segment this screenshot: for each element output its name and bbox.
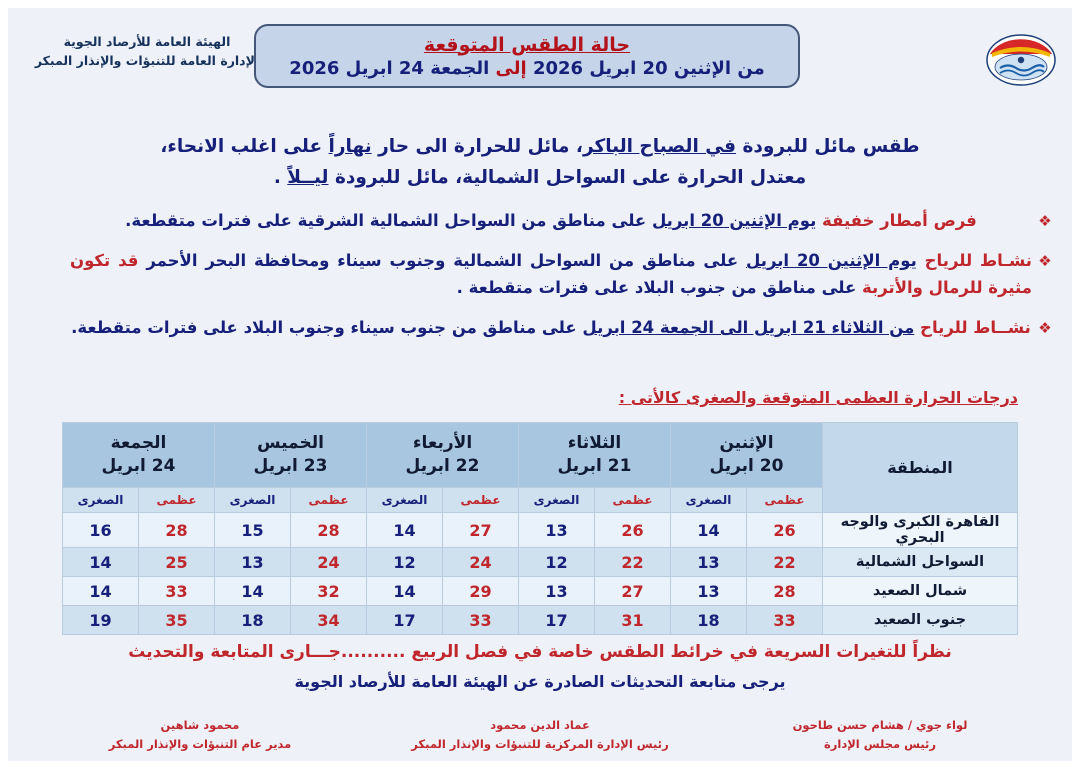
agency-line-1: الهيئة العامة للأرصاد الجوية	[22, 32, 272, 51]
page-bottom-margin	[0, 761, 1080, 777]
bullet-3-red: نشــاط للرياح	[914, 318, 1031, 337]
temp-max: 27	[595, 577, 671, 606]
subheader-min-thursday: الصغرى	[215, 488, 291, 513]
temp-max: 35	[139, 606, 215, 635]
temp-max: 34	[291, 606, 367, 635]
bullet-1-red: فرص أمطار خفيفة	[816, 211, 977, 230]
temp-min: 13	[671, 548, 747, 577]
diamond-bullet-icon: ❖	[1032, 315, 1058, 340]
temp-min: 14	[367, 513, 443, 548]
bullet-2-red: نشـاط للرياح	[917, 251, 1032, 270]
bullet-2-underline: يوم الإثنين 20 ابريل	[746, 251, 917, 270]
summary-underline-3: ليــلاً	[287, 167, 328, 188]
forecast-title-box: حالة الطقس المتوقعة من الإثنين 20 ابريل …	[254, 24, 800, 88]
temp-min: 13	[519, 577, 595, 606]
table-row: جنوب الصعيد 33 18 31 17 33 17 34 18 35 1…	[63, 606, 1018, 635]
bullet-1-rest: على مناطق من السواحل الشمالية الشرقية عل…	[125, 211, 652, 230]
update-notice-blue: يرجى متابعة التحديثات الصادرة عن الهيئة …	[60, 669, 1020, 695]
temp-min: 13	[671, 577, 747, 606]
agency-logo-icon	[982, 32, 1060, 88]
weather-forecast-page: الهيئة العامة للأرصاد الجوية الإدارة الع…	[0, 0, 1080, 777]
day-header-wednesday: الأربعاء 22 ابريل	[367, 423, 519, 488]
temp-max: 28	[291, 513, 367, 548]
day-date: 22 ابريل	[368, 455, 517, 478]
day-header-monday: الإثنين 20 ابريل	[671, 423, 823, 488]
subheader-max-wednesday: عظمى	[443, 488, 519, 513]
signature-name: محمود شاهين	[30, 716, 370, 736]
bullet-3-underline: من الثلاثاء 21 ابريل الى الجمعة 24 ابريل	[582, 318, 914, 337]
page-title: حالة الطقس المتوقعة	[424, 34, 630, 56]
subheader-max-thursday: عظمى	[291, 488, 367, 513]
bullet-3-rest: على مناطق من جنوب سيناء وجنوب البلاد على…	[71, 318, 582, 337]
signature-role: رئيس مجلس الإدارة	[710, 735, 1050, 755]
update-notice-red: نظراً للتغيرات السريعة في خرائط الطقس خا…	[60, 640, 1020, 666]
temp-min: 14	[63, 577, 139, 606]
subheader-min-wednesday: الصغرى	[367, 488, 443, 513]
temp-max: 29	[443, 577, 519, 606]
day-name: الجمعة	[64, 432, 213, 455]
date-range-prefix: من الإثنين 20 ابريل 2026	[527, 58, 765, 79]
region-name: السواحل الشمالية	[823, 548, 1018, 577]
list-item: ❖ نشــاط للرياح من الثلاثاء 21 ابريل الى…	[70, 315, 1058, 341]
day-date: 23 ابريل	[216, 455, 365, 478]
temp-min: 16	[63, 513, 139, 548]
temp-max: 28	[747, 577, 823, 606]
table-row: القاهرة الكبرى والوجه البحري 26 14 26 13…	[63, 513, 1018, 548]
signature-central-head: عماد الدين محمود رئيس الإدارة المركزية ل…	[370, 716, 710, 755]
subheader-max-monday: عظمى	[747, 488, 823, 513]
agency-logo	[982, 32, 1060, 88]
region-name: جنوب الصعيد	[823, 606, 1018, 635]
agency-line-2: الإدارة العامة للتنبؤات والإنذار المبكر	[22, 51, 272, 70]
forecast-summary-line-1: طقس مائل للبرودة في الصباح الباكر، مائل …	[60, 132, 1020, 163]
bullet-3-text: نشــاط للرياح من الثلاثاء 21 ابريل الى ا…	[70, 315, 1032, 341]
table-head: المنطقة الإثنين 20 ابريل الثلاثاء 21 ابر…	[63, 423, 1018, 513]
day-name: الثلاثاء	[520, 432, 669, 455]
bullet-2-rest: على مناطق من السواحل الشمالية وجنوب سينا…	[146, 251, 746, 270]
day-name: الإثنين	[672, 432, 821, 455]
temp-min: 18	[215, 606, 291, 635]
signature-name: عماد الدين محمود	[370, 716, 710, 736]
temp-max: 28	[139, 513, 215, 548]
list-item: ❖ فرص أمطار خفيفة يوم الإثنين 20 ابريل ع…	[70, 208, 1058, 234]
forecast-summary: طقس مائل للبرودة في الصباح الباكر، مائل …	[60, 132, 1020, 193]
temp-min: 18	[671, 606, 747, 635]
summary-seg-2: ، مائل للحرارة الى حار	[372, 136, 583, 157]
subheader-max-friday: عظمى	[139, 488, 215, 513]
region-column-header: المنطقة	[823, 423, 1018, 513]
signature-role: مدير عام التنبؤات والإنذار المبكر	[30, 735, 370, 755]
forecast-summary-line-2: معتدل الحرارة على السواحل الشمالية، مائل…	[60, 163, 1020, 194]
table-row: شمال الصعيد 28 13 27 13 29 14 32 14 33 1…	[63, 577, 1018, 606]
summary-underline-1: في الصباح الباكر	[583, 136, 736, 157]
temperature-table-caption: درجات الحرارة العظمى المتوقعة والصغرى كا…	[619, 388, 1018, 407]
signature-general-manager: محمود شاهين مدير عام التنبؤات والإنذار ا…	[30, 716, 370, 755]
day-header-friday: الجمعة 24 ابريل	[63, 423, 215, 488]
temp-max: 24	[443, 548, 519, 577]
subheader-min-monday: الصغرى	[671, 488, 747, 513]
day-name: الأربعاء	[368, 432, 517, 455]
bullet-1-text: فرص أمطار خفيفة يوم الإثنين 20 ابريل على…	[70, 208, 1032, 234]
summary-seg-5: .	[274, 167, 287, 188]
signature-role: رئيس الإدارة المركزية للتنبؤات والإنذار …	[370, 735, 710, 755]
day-date: 24 ابريل	[64, 455, 213, 478]
temp-max: 33	[443, 606, 519, 635]
temp-min: 19	[63, 606, 139, 635]
temp-min: 14	[367, 577, 443, 606]
agency-name-block: الهيئة العامة للأرصاد الجوية الإدارة الع…	[22, 32, 272, 71]
footer-notes: نظراً للتغيرات السريعة في خرائط الطقس خا…	[60, 640, 1020, 694]
summary-seg-3: على اغلب الانحاء،	[160, 136, 328, 157]
summary-seg-4: معتدل الحرارة على السواحل الشمالية، مائل…	[329, 167, 807, 188]
day-date: 21 ابريل	[520, 455, 669, 478]
temp-max: 22	[595, 548, 671, 577]
day-name: الخميس	[216, 432, 365, 455]
temp-max: 24	[291, 548, 367, 577]
temp-max: 27	[443, 513, 519, 548]
temperature-table-wrapper: المنطقة الإثنين 20 ابريل الثلاثاء 21 ابر…	[62, 422, 1018, 635]
temp-min: 13	[215, 548, 291, 577]
temp-max: 31	[595, 606, 671, 635]
date-range-suffix: الجمعة 24 ابريل 2026	[289, 58, 495, 79]
subheader-min-tuesday: الصغرى	[519, 488, 595, 513]
diamond-bullet-icon: ❖	[1032, 248, 1058, 273]
region-name: شمال الصعيد	[823, 577, 1018, 606]
temp-max: 32	[291, 577, 367, 606]
temp-max: 33	[139, 577, 215, 606]
forecast-date-range: من الإثنين 20 ابريل 2026 إلى الجمعة 24 ا…	[289, 58, 764, 79]
page-left-margin	[0, 0, 8, 777]
table-day-header-row: المنطقة الإثنين 20 ابريل الثلاثاء 21 ابر…	[63, 423, 1018, 488]
temp-max: 26	[747, 513, 823, 548]
list-item: ❖ نشـاط للرياح يوم الإثنين 20 ابريل على …	[70, 248, 1058, 301]
diamond-bullet-icon: ❖	[1032, 208, 1058, 233]
temp-min: 13	[519, 513, 595, 548]
bullet-1-underline: يوم الإثنين 20 ابريل	[652, 211, 816, 230]
date-range-connector: إلى	[496, 58, 527, 79]
subheader-max-tuesday: عظمى	[595, 488, 671, 513]
temp-min: 17	[367, 606, 443, 635]
signature-block: لواء جوي / هشام حسن طاحون رئيس مجلس الإد…	[30, 716, 1050, 755]
summary-underline-2: نهاراً	[329, 136, 372, 157]
temp-max: 33	[747, 606, 823, 635]
header: الهيئة العامة للأرصاد الجوية الإدارة الع…	[10, 22, 1070, 108]
temp-min: 14	[215, 577, 291, 606]
page-right-margin	[1072, 0, 1080, 777]
subheader-min-friday: الصغرى	[63, 488, 139, 513]
temp-min: 14	[63, 548, 139, 577]
day-date: 20 ابريل	[672, 455, 821, 478]
temperature-table: المنطقة الإثنين 20 ابريل الثلاثاء 21 ابر…	[62, 422, 1018, 635]
region-name: القاهرة الكبرى والوجه البحري	[823, 513, 1018, 548]
temp-max: 26	[595, 513, 671, 548]
table-body: القاهرة الكبرى والوجه البحري 26 14 26 13…	[63, 513, 1018, 635]
bullet-2-rest-2: على مناطق من جنوب البلاد على فترات متقطع…	[457, 278, 862, 297]
temp-min: 17	[519, 606, 595, 635]
page-top-margin	[0, 0, 1080, 8]
signature-name: لواء جوي / هشام حسن طاحون	[710, 716, 1050, 736]
temp-max: 25	[139, 548, 215, 577]
summary-seg-1: طقس مائل للبرودة	[736, 136, 920, 157]
signature-chairman: لواء جوي / هشام حسن طاحون رئيس مجلس الإد…	[710, 716, 1050, 755]
temp-min: 14	[671, 513, 747, 548]
temp-max: 22	[747, 548, 823, 577]
day-header-tuesday: الثلاثاء 21 ابريل	[519, 423, 671, 488]
forecast-bullet-list: ❖ فرص أمطار خفيفة يوم الإثنين 20 ابريل ع…	[70, 208, 1058, 356]
temp-min: 12	[519, 548, 595, 577]
temp-min: 15	[215, 513, 291, 548]
day-header-thursday: الخميس 23 ابريل	[215, 423, 367, 488]
temp-min: 12	[367, 548, 443, 577]
table-row: السواحل الشمالية 22 13 22 12 24 12 24 13…	[63, 548, 1018, 577]
bullet-2-text: نشـاط للرياح يوم الإثنين 20 ابريل على من…	[70, 248, 1032, 301]
